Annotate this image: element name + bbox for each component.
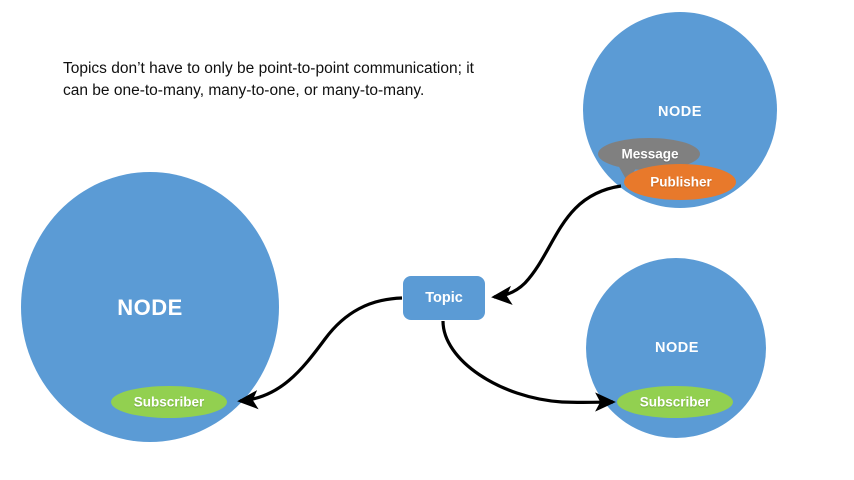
- arrow-publisher-to-topic: [494, 186, 621, 297]
- topic-label: Topic: [425, 290, 463, 306]
- publisher-label: Publisher: [650, 175, 712, 190]
- node-label-bottom-right: NODE: [655, 340, 699, 356]
- message-label: Message: [621, 147, 678, 162]
- slide-canvas: Topics don’t have to only be point-to-po…: [0, 0, 854, 480]
- node-label-top-right: NODE: [658, 104, 702, 120]
- subscriber-label-bottom-right: Subscriber: [640, 395, 711, 410]
- caption-text: Topics don’t have to only be point-to-po…: [63, 58, 483, 103]
- subscriber-label-left: Subscriber: [134, 395, 205, 410]
- node-label-left: NODE: [117, 295, 183, 321]
